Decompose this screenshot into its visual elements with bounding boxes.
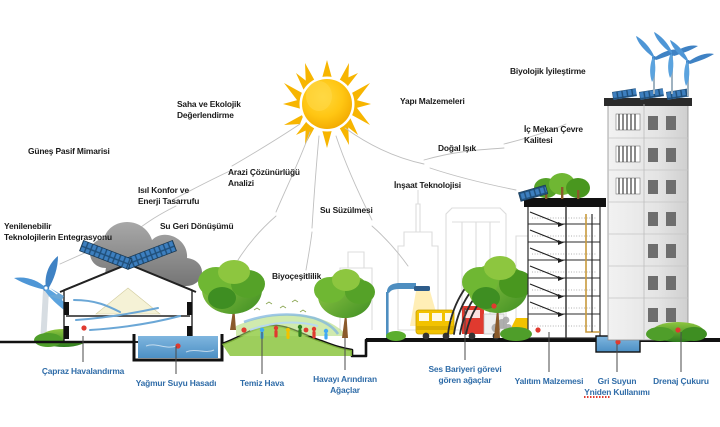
sun-icon (283, 60, 371, 148)
infographic-artwork (0, 0, 720, 427)
bus-icon (416, 310, 454, 339)
roof-solar-array (612, 88, 689, 100)
rainwater-basin (134, 334, 222, 360)
tall-building (604, 32, 714, 340)
roof-wind-turbines (636, 32, 714, 96)
louvered-windows (616, 114, 640, 194)
building-cross-section (518, 173, 606, 338)
infographic-canvas: Güneş Pasif MimarisiSaha ve Ekolojik Değ… (0, 0, 720, 427)
